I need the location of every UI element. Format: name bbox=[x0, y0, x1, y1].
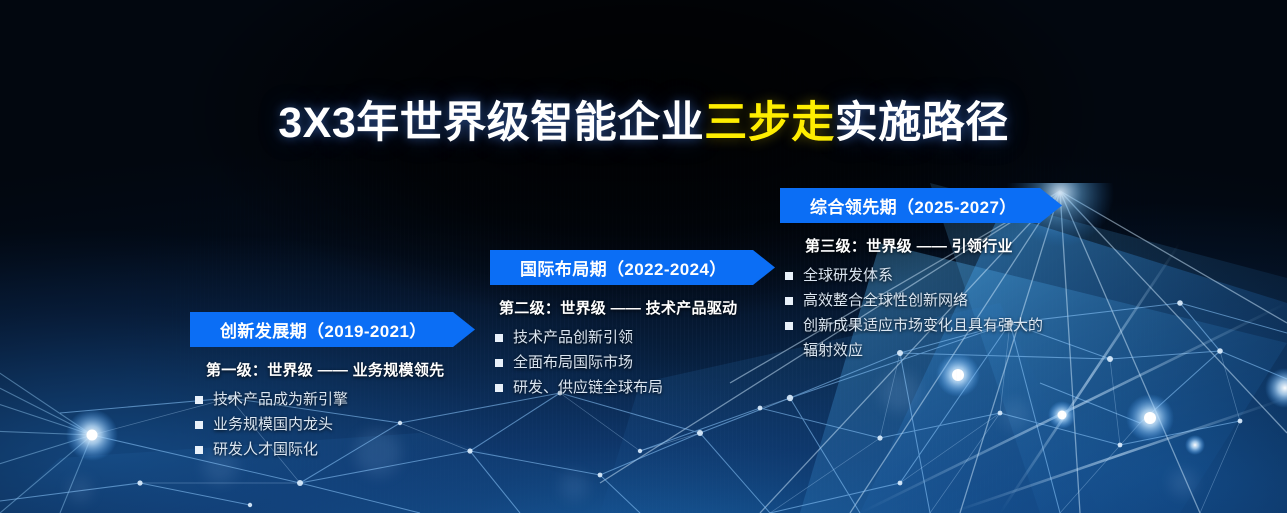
bokeh-orb bbox=[1000, 400, 1030, 430]
stage-3-banner[interactable]: 综合领先期（2025-2027） bbox=[780, 188, 1062, 223]
bokeh-orb bbox=[560, 472, 588, 500]
title-highlight: 三步走 bbox=[704, 99, 835, 147]
title-suffix: 实施路径 bbox=[835, 99, 1009, 147]
stage-3-banner-label: 综合领先期（2025-2027） bbox=[810, 193, 1017, 218]
page-title: 3X3年世界级智能企业三步走实施路径 bbox=[0, 88, 1287, 150]
list-item: 业务规模国内龙头 bbox=[190, 412, 475, 437]
bokeh-orb bbox=[880, 372, 920, 412]
stage-block-3: 综合领先期（2025-2027） 第三级：世界级 —— 引领行业 全球研发体系 … bbox=[780, 188, 1065, 363]
bokeh-orb bbox=[68, 478, 92, 502]
stage-block-1: 创新发展期（2019-2021） 第一级：世界级 —— 业务规模领先 技术产品成… bbox=[190, 312, 475, 462]
list-item: 高效整合全球性创新网络 bbox=[780, 288, 1052, 313]
list-item: 全面布局国际市场 bbox=[490, 350, 775, 375]
title-prefix: 3X3年世界级智能企业 bbox=[278, 99, 704, 147]
stage-2-banner-label: 国际布局期（2022-2024） bbox=[520, 255, 727, 280]
stage-2-banner[interactable]: 国际布局期（2022-2024） bbox=[490, 250, 775, 285]
stage-3-level-line: 第三级：世界级 —— 引领行业 bbox=[780, 235, 1065, 256]
presentation-slide: 3X3年世界级智能企业三步走实施路径 创新发展期（2019-2021） 第一级：… bbox=[0, 0, 1287, 513]
stage-3-bullet-list: 全球研发体系 高效整合全球性创新网络 创新成果适应市场变化且具有强大的辐射效应 bbox=[780, 263, 1065, 363]
list-item: 研发、供应链全球布局 bbox=[490, 375, 775, 400]
bokeh-orb bbox=[1170, 470, 1196, 496]
stage-2-level-line: 第二级：世界级 —— 技术产品驱动 bbox=[490, 297, 775, 318]
list-item: 技术产品成为新引擎 bbox=[190, 387, 475, 412]
list-item: 全球研发体系 bbox=[780, 263, 1052, 288]
list-item: 创新成果适应市场变化且具有强大的辐射效应 bbox=[780, 313, 1052, 363]
stage-block-2: 国际布局期（2022-2024） 第二级：世界级 —— 技术产品驱动 技术产品创… bbox=[490, 250, 775, 400]
stage-2-bullet-list: 技术产品创新引领 全面布局国际市场 研发、供应链全球布局 bbox=[490, 325, 775, 400]
stage-1-banner[interactable]: 创新发展期（2019-2021） bbox=[190, 312, 475, 347]
list-item: 技术产品创新引领 bbox=[490, 325, 775, 350]
stage-1-bullet-list: 技术产品成为新引擎 业务规模国内龙头 研发人才国际化 bbox=[190, 387, 475, 462]
stage-1-level-line: 第一级：世界级 —— 业务规模领先 bbox=[190, 359, 475, 380]
list-item: 研发人才国际化 bbox=[190, 437, 475, 462]
stage-1-banner-label: 创新发展期（2019-2021） bbox=[220, 317, 427, 342]
